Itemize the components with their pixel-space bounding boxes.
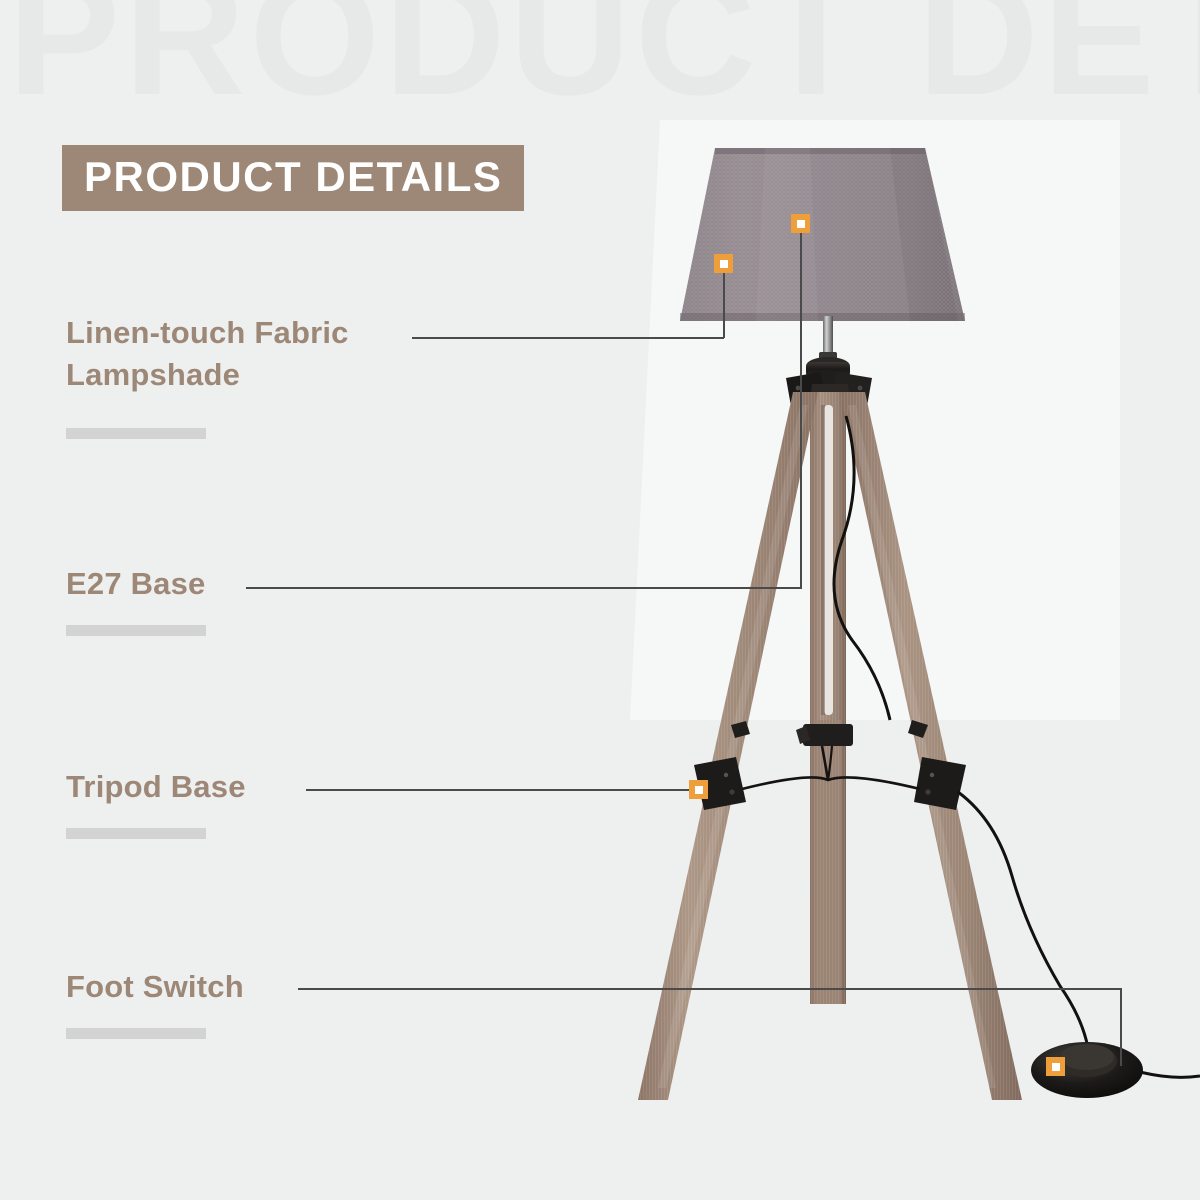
infographic-canvas: PRODUCT DET — [0, 0, 1200, 1200]
leader-line-foot-switch-vertical — [1120, 988, 1122, 1066]
leader-line-lampshade-horizontal — [412, 337, 724, 339]
marker-inner-square — [1052, 1063, 1060, 1071]
callout-divider-e27-base — [66, 625, 206, 636]
product-photo — [560, 120, 1200, 1130]
callout-label-tripod-base: Tripod Base — [66, 766, 246, 808]
callout-marker-foot-switch[interactable] — [1046, 1057, 1065, 1076]
page-title: PRODUCT DETAILS — [84, 155, 502, 199]
callout-divider-tripod-base — [66, 828, 206, 839]
leader-line-foot-switch-horizontal — [298, 988, 1122, 990]
callout-marker-e27-base[interactable] — [791, 214, 810, 233]
marker-inner-square — [797, 220, 805, 228]
callout-divider-lampshade — [66, 428, 206, 439]
callout-label-e27-base: E27 Base — [66, 563, 205, 605]
tripod-leg-center — [810, 392, 846, 1004]
watermark-text: PRODUCT DET — [8, 0, 1200, 120]
callout-marker-lampshade[interactable] — [714, 254, 733, 273]
leader-line-lampshade-vertical — [723, 272, 725, 338]
callout-label-foot-switch: Foot Switch — [66, 966, 244, 1008]
leader-line-e27-base-horizontal — [246, 587, 802, 589]
callout-marker-tripod-base[interactable] — [689, 780, 708, 799]
marker-inner-square — [695, 786, 703, 794]
callout-divider-foot-switch — [66, 1028, 206, 1039]
marker-inner-square — [720, 260, 728, 268]
page-title-banner: PRODUCT DETAILS — [62, 145, 524, 211]
leader-line-tripod-base-horizontal — [306, 789, 696, 791]
callout-label-lampshade: Linen-touch Fabric Lampshade — [66, 312, 349, 396]
leader-line-e27-base-vertical — [800, 232, 802, 588]
